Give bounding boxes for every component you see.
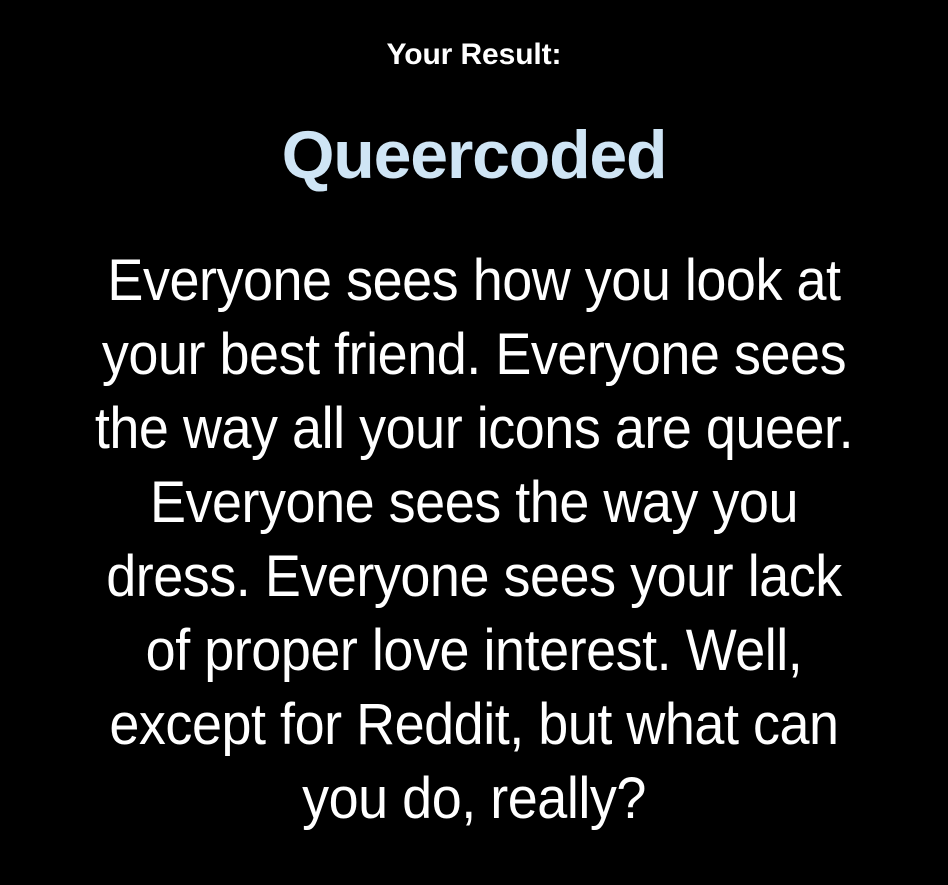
description-line: the way all your icons are queer.: [33, 392, 915, 466]
description-line: you do, really?: [33, 762, 915, 836]
result-kicker-label: Your Result:: [0, 38, 948, 72]
quiz-result-card: Your Result: Queercoded Everyone sees ho…: [0, 0, 948, 885]
description-line: dress. Everyone sees your lack: [33, 540, 915, 614]
description-line: Everyone sees how you look at: [33, 244, 915, 318]
description-line: except for Reddit, but what can: [33, 688, 915, 762]
description-line: Everyone sees the way you: [33, 466, 915, 540]
result-title: Queercoded: [0, 116, 948, 194]
description-line: of proper love interest. Well,: [33, 614, 915, 688]
description-line: your best friend. Everyone sees: [33, 318, 915, 392]
result-description: Everyone sees how you look at your best …: [0, 244, 948, 836]
